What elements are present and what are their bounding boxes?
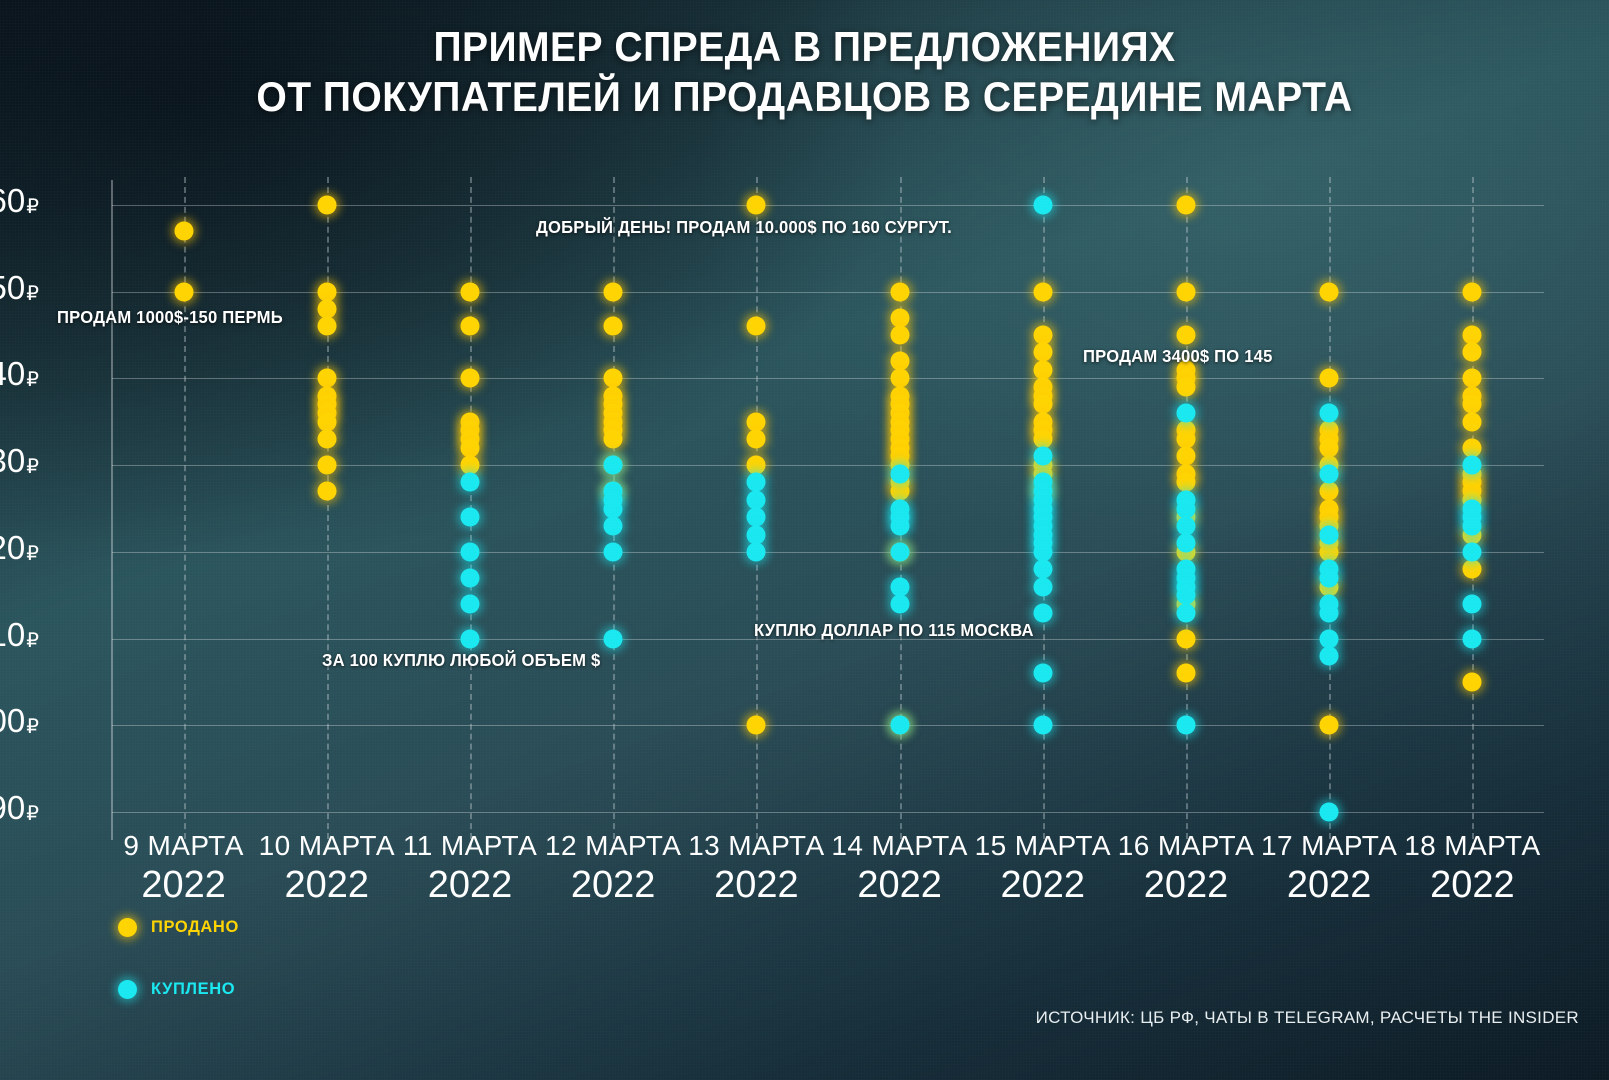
data-point-sold	[317, 482, 336, 501]
bought-marker-icon	[118, 980, 137, 999]
y-axis-tick-label: 120₽	[0, 529, 39, 567]
data-point-sold	[174, 222, 193, 241]
data-point-sold	[890, 308, 909, 327]
y-axis-line	[111, 180, 113, 840]
data-point-sold	[461, 282, 480, 301]
chart-annotation-2: ДОБРЫЙ ДЕНЬ! ПРОДАМ 10.000$ ПО 160 СУРГУ…	[536, 217, 952, 238]
legend-label-bought: КУПЛЕНО	[151, 980, 235, 999]
chart-annotation-5: КУПЛЮ ДОЛЛАР ПО 115 МОСКВА	[754, 620, 1034, 641]
data-point-sold	[1033, 326, 1052, 345]
chart-annotation-3: ПРОДАМ 3400$ ПО 145	[1083, 346, 1273, 367]
data-point-sold	[1177, 664, 1196, 683]
x-category-guide	[327, 177, 329, 849]
data-point-bought	[890, 516, 909, 535]
data-point-bought	[1033, 542, 1052, 561]
data-point-bought	[604, 499, 623, 518]
data-point-bought	[747, 525, 766, 544]
data-point-sold	[1320, 716, 1339, 735]
data-point-bought	[604, 629, 623, 648]
data-point-bought	[1463, 456, 1482, 475]
data-point-sold	[317, 456, 336, 475]
data-point-sold	[317, 300, 336, 319]
data-point-sold	[1177, 629, 1196, 648]
data-point-sold	[1177, 447, 1196, 466]
data-point-sold	[604, 282, 623, 301]
infographic-root: ПРИМЕР СПРЕДА В ПРЕДЛОЖЕНИЯХ ОТ ПОКУПАТЕ…	[0, 0, 1609, 1080]
data-point-sold	[1033, 360, 1052, 379]
y-axis-tick-label: 90₽	[0, 789, 39, 827]
data-point-sold	[461, 369, 480, 388]
data-point-bought	[1320, 464, 1339, 483]
data-point-bought	[604, 516, 623, 535]
data-point-sold	[317, 282, 336, 301]
data-point-bought	[1177, 603, 1196, 622]
data-point-sold	[890, 282, 909, 301]
data-point-sold	[890, 326, 909, 345]
data-point-bought	[890, 542, 909, 561]
chart-annotation-1: ПРОДАМ 1000$-150 ПЕРМЬ	[57, 307, 283, 328]
data-point-sold	[890, 352, 909, 371]
data-point-bought	[1463, 542, 1482, 561]
data-point-bought	[1033, 716, 1052, 735]
data-point-sold	[1320, 482, 1339, 501]
data-point-sold	[604, 317, 623, 336]
data-point-sold	[1177, 430, 1196, 449]
data-point-sold	[1177, 378, 1196, 397]
data-point-bought	[1463, 629, 1482, 648]
data-point-sold	[317, 412, 336, 431]
data-point-sold	[1320, 282, 1339, 301]
data-point-bought	[461, 473, 480, 492]
data-point-bought	[890, 577, 909, 596]
data-point-sold	[1463, 369, 1482, 388]
title-line-1: ПРИМЕР СПРЕДА В ПРЕДЛОЖЕНИЯХ	[56, 22, 1552, 72]
data-point-sold	[174, 282, 193, 301]
data-point-sold	[1033, 430, 1052, 449]
data-point-sold	[1463, 560, 1482, 579]
data-point-bought	[1463, 594, 1482, 613]
source-note: ИСТОЧНИК: ЦБ РФ, ЧАТЫ В TELEGRAM, РАСЧЕТ…	[1036, 1008, 1579, 1028]
data-point-sold	[1177, 282, 1196, 301]
data-point-sold	[1463, 326, 1482, 345]
legend-item-sold[interactable]: ПРОДАНО	[118, 918, 239, 937]
data-point-bought	[461, 542, 480, 561]
data-point-sold	[461, 456, 480, 475]
data-point-bought	[890, 464, 909, 483]
data-point-bought	[1320, 646, 1339, 665]
y-axis-tick-label: 160₽	[0, 182, 39, 220]
data-point-bought	[461, 508, 480, 527]
data-point-bought	[1177, 534, 1196, 553]
data-point-sold	[461, 317, 480, 336]
data-point-bought	[747, 508, 766, 527]
data-point-bought	[604, 542, 623, 561]
sold-marker-icon	[118, 918, 137, 937]
data-point-sold	[890, 482, 909, 501]
data-point-sold	[1463, 412, 1482, 431]
data-point-bought	[1177, 404, 1196, 423]
x-axis-day: 18 МАРТА	[1377, 832, 1567, 860]
data-point-sold	[747, 317, 766, 336]
data-point-sold	[317, 430, 336, 449]
y-axis-tick-label: 100₽	[0, 702, 39, 740]
x-category-guide	[184, 177, 186, 849]
data-point-bought	[1320, 603, 1339, 622]
data-point-bought	[1177, 716, 1196, 735]
data-point-sold	[747, 716, 766, 735]
data-point-bought	[747, 490, 766, 509]
data-point-bought	[1033, 664, 1052, 683]
data-point-sold	[1320, 542, 1339, 561]
data-point-bought	[890, 716, 909, 735]
data-point-bought	[1177, 516, 1196, 535]
data-point-bought	[461, 594, 480, 613]
data-point-sold	[1033, 343, 1052, 362]
data-point-sold	[747, 196, 766, 215]
data-point-bought	[890, 594, 909, 613]
data-point-sold	[317, 317, 336, 336]
data-point-bought	[604, 456, 623, 475]
data-point-sold	[1463, 282, 1482, 301]
data-point-bought	[1033, 447, 1052, 466]
data-point-bought	[1320, 404, 1339, 423]
data-point-bought	[1320, 629, 1339, 648]
data-point-bought	[747, 542, 766, 561]
scatter-plot-area: 90₽100₽110₽120₽130₽140₽150₽160₽	[112, 205, 1544, 812]
x-axis-year: 2022	[1377, 866, 1567, 904]
data-point-sold	[747, 430, 766, 449]
data-point-bought	[1463, 516, 1482, 535]
y-axis-tick-label: 130₽	[0, 442, 39, 480]
data-point-bought	[1033, 560, 1052, 579]
data-point-sold	[1033, 282, 1052, 301]
data-point-bought	[461, 568, 480, 587]
data-point-sold	[1320, 369, 1339, 388]
data-point-sold	[747, 412, 766, 431]
data-point-bought	[1177, 499, 1196, 518]
data-point-bought	[1033, 603, 1052, 622]
y-axis-tick-label: 140₽	[0, 355, 39, 393]
y-axis-tick-label: 150₽	[0, 269, 39, 307]
data-point-sold	[1463, 395, 1482, 414]
data-point-sold	[1463, 672, 1482, 691]
data-point-sold	[1320, 438, 1339, 457]
data-point-sold	[1177, 326, 1196, 345]
chart-annotation-4: ЗА 100 КУПЛЮ ЛЮБОЙ ОБЪЕМ $	[322, 650, 600, 671]
data-point-bought	[1320, 568, 1339, 587]
data-point-bought	[1320, 803, 1339, 822]
data-point-sold	[1033, 395, 1052, 414]
legend-label-sold: ПРОДАНО	[151, 918, 239, 937]
data-point-bought	[1033, 577, 1052, 596]
data-point-bought	[1320, 525, 1339, 544]
data-point-sold	[317, 196, 336, 215]
y-axis-tick-label: 110₽	[0, 616, 39, 654]
data-point-sold	[890, 369, 909, 388]
legend-item-bought[interactable]: КУПЛЕНО	[118, 980, 235, 999]
data-point-sold	[1177, 196, 1196, 215]
x-axis-label: 18 МАРТА2022	[1377, 832, 1567, 904]
data-point-sold	[1177, 473, 1196, 492]
data-point-sold	[604, 430, 623, 449]
data-point-sold	[1463, 438, 1482, 457]
data-point-sold	[317, 369, 336, 388]
data-point-bought	[1033, 196, 1052, 215]
data-point-bought	[747, 473, 766, 492]
title-line-2: ОТ ПОКУПАТЕЛЕЙ И ПРОДАВЦОВ В СЕРЕДИНЕ МА…	[56, 72, 1552, 122]
data-point-sold	[1463, 343, 1482, 362]
data-point-bought	[461, 629, 480, 648]
data-point-sold	[747, 456, 766, 475]
data-point-bought	[1177, 586, 1196, 605]
data-point-sold	[604, 369, 623, 388]
data-point-sold	[461, 438, 480, 457]
page-title: ПРИМЕР СПРЕДА В ПРЕДЛОЖЕНИЯХ ОТ ПОКУПАТЕ…	[56, 22, 1552, 122]
